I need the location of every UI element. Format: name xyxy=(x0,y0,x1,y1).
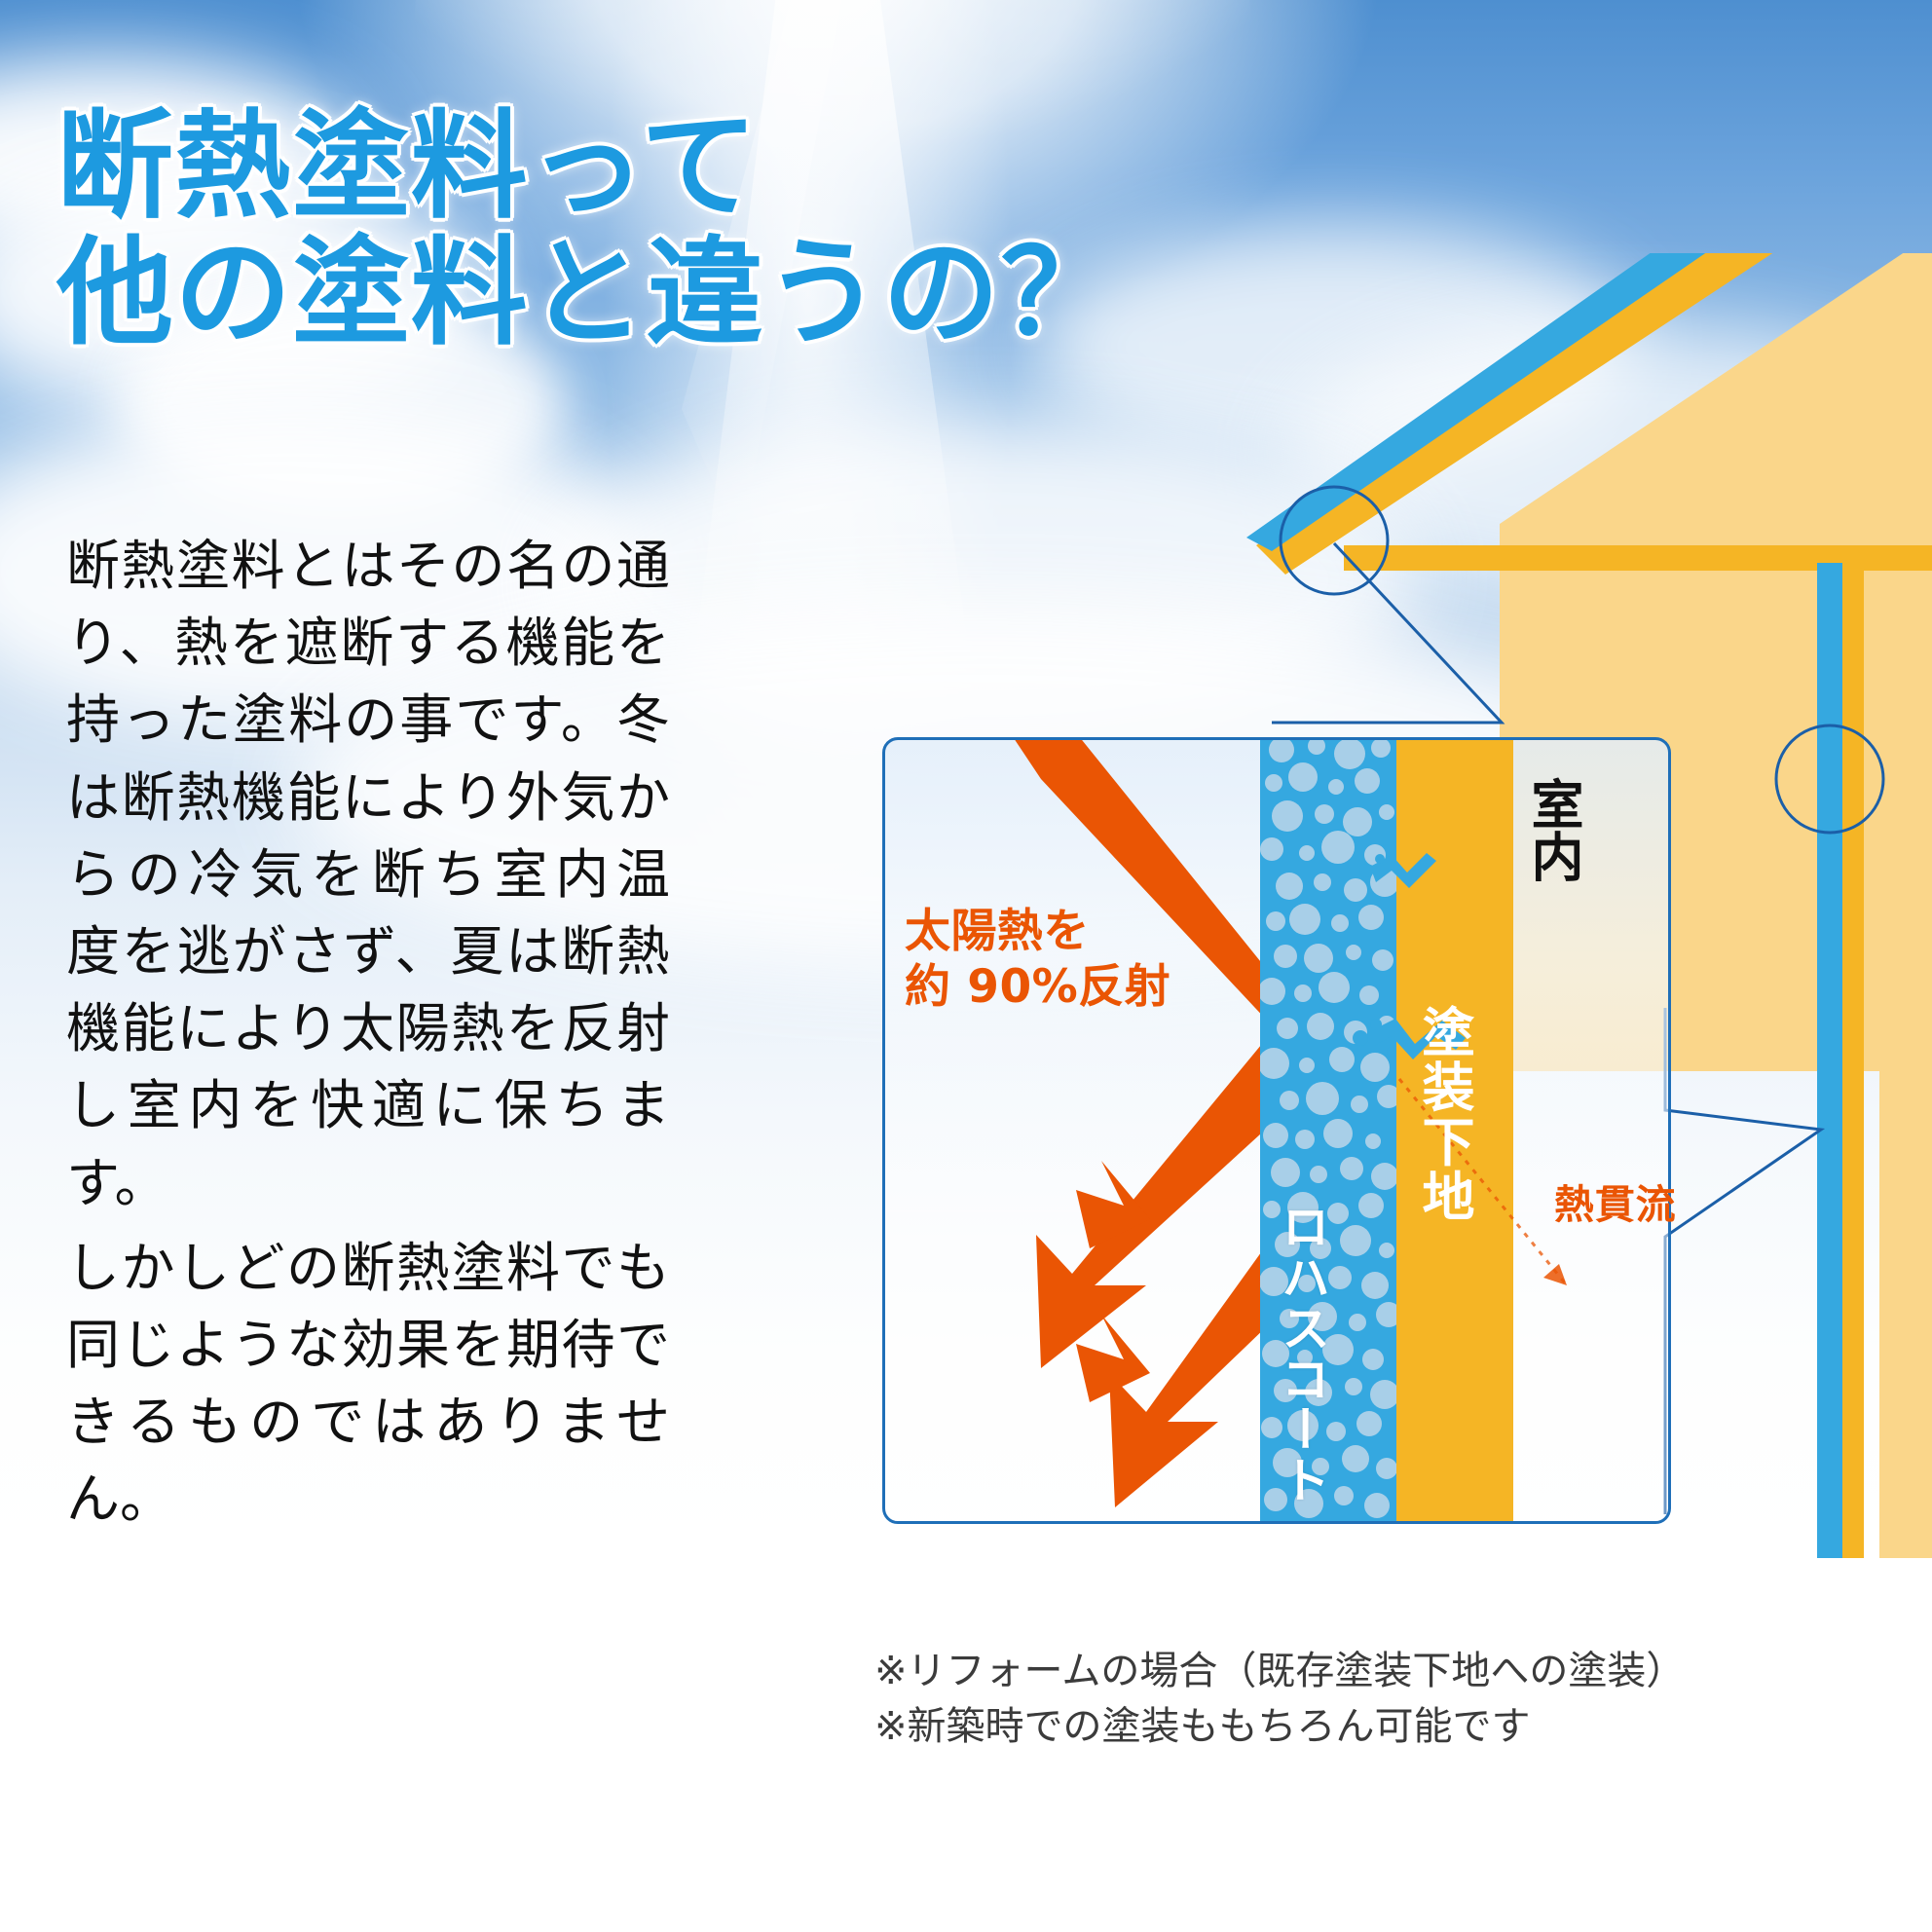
solar-reflect-label-line2: 約 90%反射 xyxy=(905,959,1170,1015)
description-text: 断熱塗料とはその名の通り、熱を遮断する機能を持った塗料の事です。冬は断熱機能によ… xyxy=(66,528,670,1538)
footnotes: ※リフォームの場合（既存塗装下地への塗装） ※新築時での塗装ももちろん可能です xyxy=(874,1644,1907,1755)
wall-body xyxy=(1879,487,1932,1558)
description-paragraph-1: 断熱塗料とはその名の通り、熱を遮断する機能を持った塗料の事です。冬は断熱機能によ… xyxy=(66,528,670,1222)
wall-coat-stripe xyxy=(1817,563,1842,1558)
layer-lohas-label: ロハスコート xyxy=(1267,1202,1337,1505)
footnote-2: ※新築時での塗装ももちろん可能です xyxy=(874,1699,1907,1755)
heat-transmission-label: 熱貫流 xyxy=(1554,1171,1676,1230)
description-paragraph-2: しかしどの断熱塗料でも同じような効果を期待できるものではありません。 xyxy=(66,1230,670,1539)
solar-reflect-label-line1: 太陽熱を xyxy=(905,904,1170,959)
footnote-1: ※リフォームの場合（既存塗装下地への塗装） xyxy=(874,1644,1907,1699)
title-line-1: 断熱塗料って xyxy=(56,107,1274,228)
layer-base-label: 塗装下地 xyxy=(1405,1005,1482,1224)
solar-reflect-label: 太陽熱を 約 90%反射 xyxy=(905,904,1170,1016)
title-line-2: 他の塗料と違うの？ xyxy=(56,234,1274,354)
poster-canvas: 断熱塗料って 他の塗料と違うの？ 断熱塗料とはその名の通り、熱を遮断する機能を持… xyxy=(0,0,1932,1932)
page-title: 断熱塗料って 他の塗料と違うの？ xyxy=(56,107,1274,353)
indoor-label: 室内 xyxy=(1514,777,1591,882)
wall-base-stripe xyxy=(1842,563,1864,1558)
